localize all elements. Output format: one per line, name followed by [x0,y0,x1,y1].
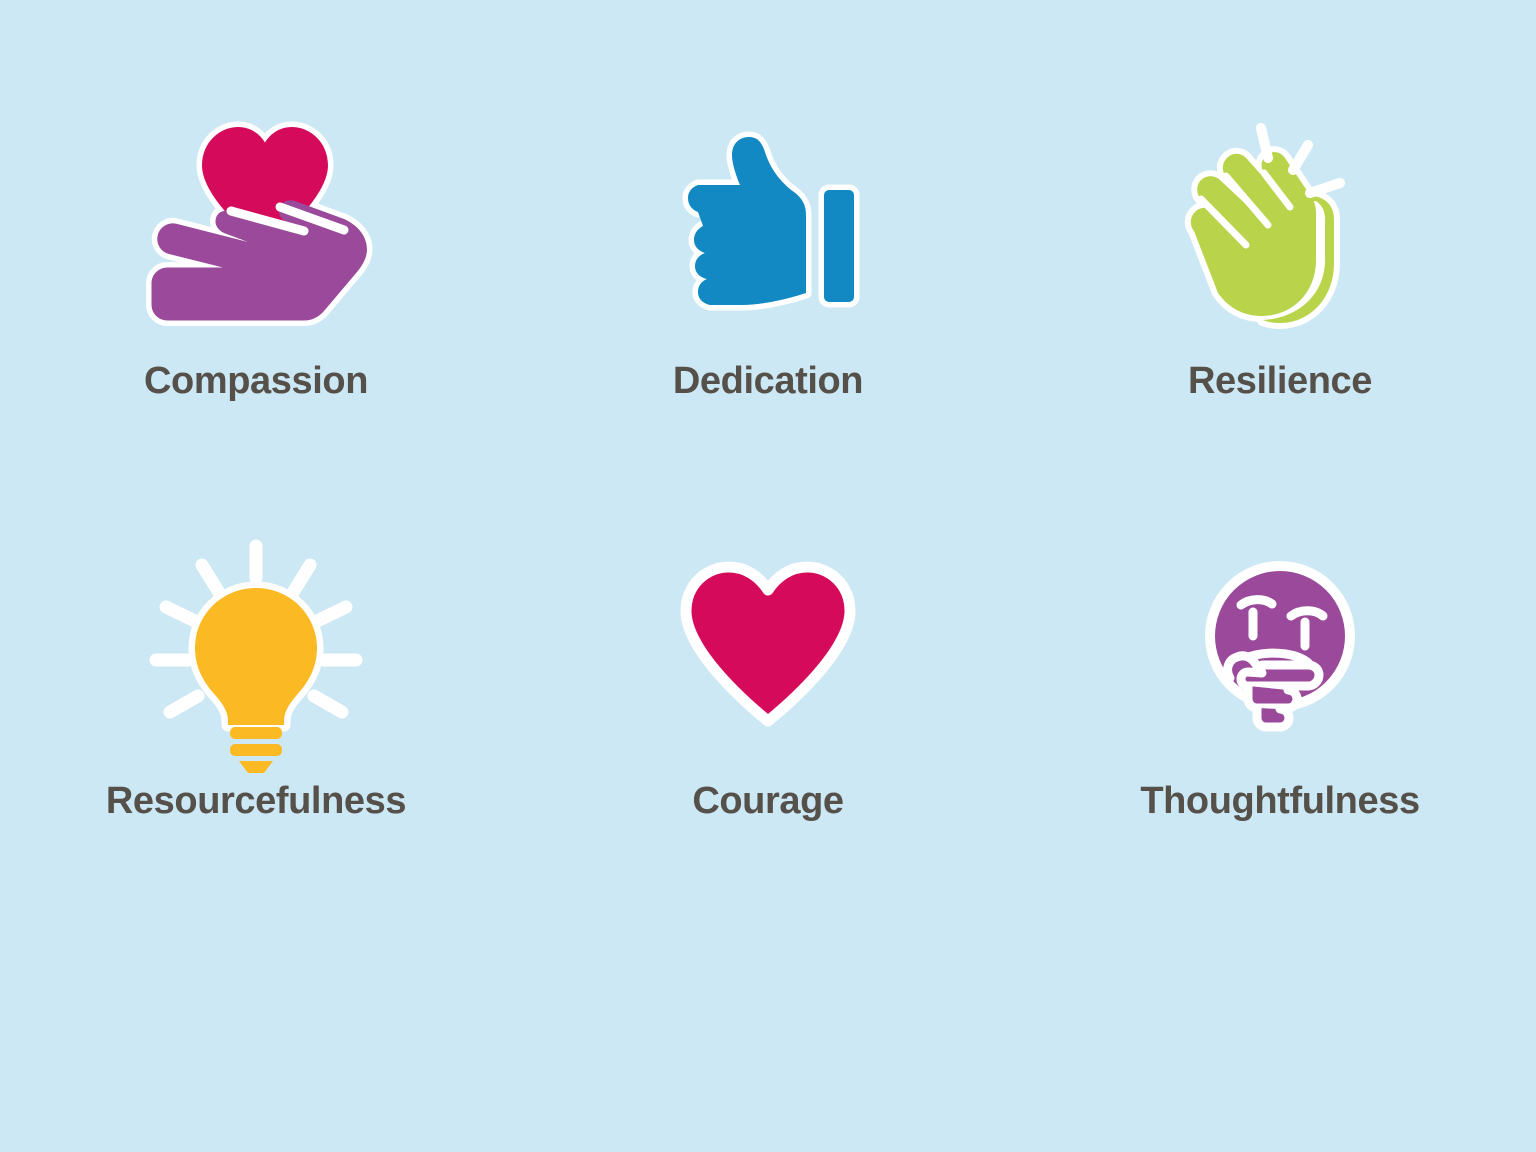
thumbs-up-icon [638,100,898,350]
value-label-thoughtfulness: Thoughtfulness [1140,782,1419,820]
value-card-resilience[interactable]: Resilience [1024,100,1536,520]
value-card-resourcefulness[interactable]: Resourcefulness [0,520,512,940]
value-label-dedication: Dedication [673,362,863,400]
heart-in-hand-icon [126,100,386,350]
thinking-face-icon [1150,520,1410,770]
value-card-thoughtfulness[interactable]: Thoughtfulness [1024,520,1536,940]
value-label-compassion: Compassion [144,362,368,400]
value-label-resourcefulness: Resourcefulness [106,782,406,820]
values-grid: Compassion Dedication [0,0,1536,1152]
value-card-dedication[interactable]: Dedication [512,100,1024,520]
value-card-courage[interactable]: Courage [512,520,1024,940]
value-label-courage: Courage [692,782,843,820]
value-label-resilience: Resilience [1188,362,1372,400]
value-card-compassion[interactable]: Compassion [0,100,512,520]
values-poster: Compassion Dedication [0,0,1536,1152]
lightbulb-icon [126,520,386,770]
clapping-hands-icon [1150,100,1410,350]
heart-icon [638,520,898,770]
